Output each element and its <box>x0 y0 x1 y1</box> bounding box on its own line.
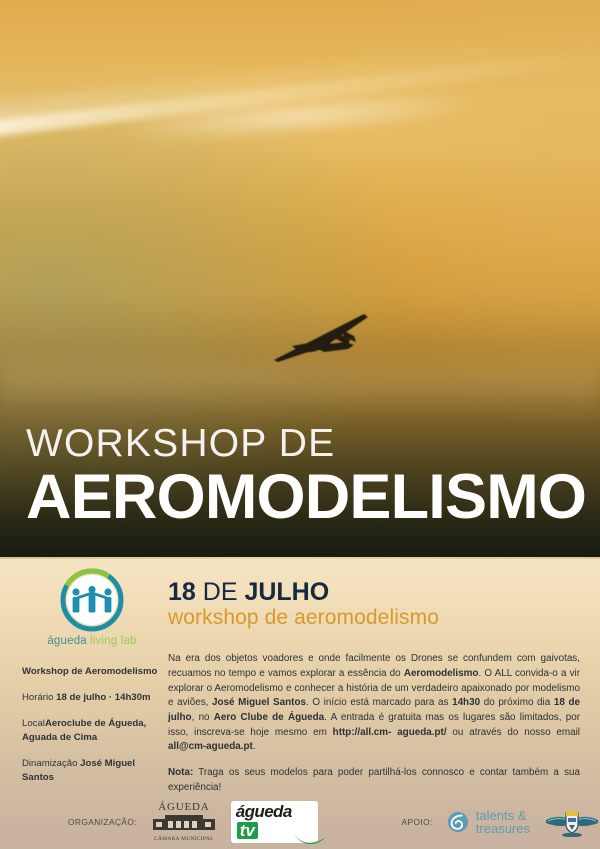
p1-url[interactable]: http://all.cm- agueda.pt/ <box>333 727 447 738</box>
meta-location-value-a: Aeroclube de Águeda, <box>45 718 146 729</box>
hero-photo: WORKSHOP DE AEROMODELISMO <box>0 0 600 557</box>
p1-o: . <box>253 741 256 752</box>
p1-time: 14h30 <box>452 697 480 708</box>
sidebar: águedaliving lab Workshop de Aeromodelis… <box>22 567 162 796</box>
lab-wordmark: águedaliving lab <box>22 635 162 647</box>
talents-mark-icon <box>447 811 469 833</box>
note-text: Traga os seus modelos para poder partilh… <box>168 767 580 793</box>
event-subtitle: workshop de aeromodelismo <box>168 606 580 630</box>
headline-block: WORKSHOP DE AEROMODELISMO <box>26 424 586 529</box>
camara-municipal-agueda-logo: ÁGUEDA CÂMARA MUNICIPAL <box>149 802 219 842</box>
lab-word-agueda: águeda <box>47 635 87 647</box>
panel-divider <box>0 557 600 559</box>
meta-schedule: Horário 18 de julho · 14h30m <box>22 691 162 705</box>
p1-m: ou através do nosso email <box>447 727 580 738</box>
meta-schedule-value: 18 de julho · 14h30m <box>56 692 150 703</box>
talents-treasures-text: talents & treasures <box>476 809 530 836</box>
event-de: DE <box>203 578 238 606</box>
headline-small: WORKSHOP DE <box>26 424 586 464</box>
atv-tv-badge: tv <box>237 822 258 839</box>
p1-speaker: José Miguel Santos <box>212 697 306 708</box>
meta-location: LocalAeroclube de Águeda, Aguada de Cima <box>22 717 162 745</box>
event-day: 18 <box>168 578 196 606</box>
lab-word-livinglab: living lab <box>90 635 137 647</box>
p1-e: . O início está marcado para as <box>306 697 452 708</box>
event-date: 18 DE JULHO <box>168 579 580 605</box>
paragraph-note: Nota: Traga os seus modelos para poder p… <box>168 766 580 795</box>
event-month: JULHO <box>244 578 329 606</box>
cm-subtitle: CÂMARA MUNICIPAL <box>149 837 219 842</box>
talents-treasures-logo: talents & treasures <box>447 809 530 836</box>
body-copy: Na era dos objetos voadores e onde facil… <box>168 652 580 795</box>
meta-host: Dinamização José Miguel Santos <box>22 757 162 785</box>
support-group: APOIO: talents & treasures <box>402 807 600 837</box>
p1-i: , no <box>192 712 214 723</box>
p1-aeromodelismo: Aeromodelismo <box>404 668 479 679</box>
paragraph-1: Na era dos objetos voadores e onde facil… <box>168 652 580 755</box>
agueda-tv-logo: águedatv <box>231 801 318 843</box>
content-panel: águedaliving lab Workshop de Aeromodelis… <box>0 557 600 849</box>
p1-venue: Aero Clube de Águeda <box>214 712 324 723</box>
organization-label: ORGANIZAÇÃO: <box>68 817 137 827</box>
p1-email[interactable]: all@cm-agueda.pt <box>168 741 253 752</box>
footer: ORGANIZAÇÃO: ÁGUEDA <box>0 795 600 849</box>
p1-g: do próximo dia <box>480 697 554 708</box>
support-label: APOIO: <box>402 817 433 827</box>
note-label: Nota: <box>168 767 193 778</box>
meta-location-label: Local <box>22 718 45 729</box>
three-people-circle-icon <box>56 567 128 633</box>
tt-line-2: treasures <box>476 822 530 835</box>
meta-schedule-label: Horário <box>22 692 53 703</box>
meta-title: Workshop de Aeromodelismo <box>22 665 162 679</box>
building-icon <box>153 815 215 831</box>
aero-club-crest-icon <box>544 807 600 837</box>
tt-line-1: talents & <box>476 809 530 822</box>
meta-host-label: Dinamização <box>22 758 77 769</box>
headline-big: AEROMODELISMO <box>26 466 586 529</box>
atv-wordmark: águeda <box>236 802 292 821</box>
poster: WORKSHOP DE AEROMODELISMO <box>0 0 600 849</box>
main-content: 18 DE JULHO workshop de aeromodelismo Na… <box>168 579 580 795</box>
meta-list: Workshop de Aeromodelismo Horário 18 de … <box>22 665 162 784</box>
cm-name: ÁGUEDA <box>149 802 219 813</box>
swoosh-icon <box>293 832 327 848</box>
organization-group: ORGANIZAÇÃO: ÁGUEDA <box>68 801 318 843</box>
glider-icon <box>268 300 388 370</box>
meta-location-value-b: Aguada de Cima <box>22 732 97 743</box>
